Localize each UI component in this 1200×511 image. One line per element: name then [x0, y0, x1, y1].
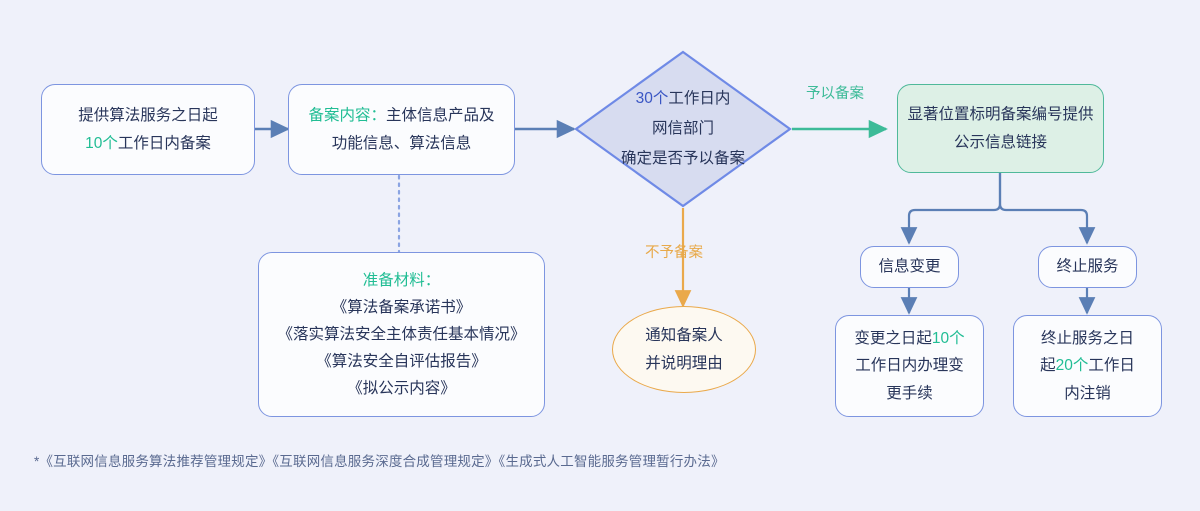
materials-title: 准备材料：	[363, 267, 441, 294]
terminate-service-label: 终止服务	[1056, 253, 1118, 280]
info-change-node[interactable]: 信息变更	[860, 246, 959, 288]
edge-label-reject: 不予备案	[645, 241, 703, 262]
decision-node-text: 30个工作日内 网信部门 确定是否予以备案	[621, 84, 745, 175]
change-detail-node[interactable]: 变更之日起10个 工作日内办理变 更手续	[835, 315, 984, 417]
edge-publish-to-terminate	[1000, 173, 1087, 243]
decision-line-1: 30个工作日内	[621, 84, 745, 114]
change-detail-line-2: 工作日内办理变	[855, 352, 964, 379]
change-detail-line-1: 变更之日起10个	[854, 325, 964, 352]
filing-content-line-2: 功能信息、算法信息	[332, 130, 472, 157]
filing-content-line-1-rest: 主体信息产品及	[386, 107, 495, 124]
publish-node-line-1: 显著位置标明备案编号提供	[907, 101, 1093, 128]
decision-line-1-rest: 工作日内	[668, 90, 730, 107]
change-detail-line-1-pre: 变更之日起	[854, 330, 932, 347]
terminate-detail-line-2-pre: 起	[1040, 357, 1056, 374]
publish-node-line-2: 公示信息链接	[954, 129, 1047, 156]
terminate-detail-line-2: 起20个工作日	[1040, 352, 1135, 379]
change-detail-line-3: 更手续	[886, 380, 933, 407]
terminate-detail-line-2-post: 工作日	[1088, 357, 1135, 374]
reject-node[interactable]: 通知备案人 并说明理由	[612, 306, 756, 393]
terminate-detail-line-3: 内注销	[1064, 380, 1111, 407]
materials-node[interactable]: 准备材料： 《算法备案承诺书》 《落实算法安全主体责任基本情况》 《算法安全自评…	[258, 252, 545, 417]
terminate-detail-accent: 20个	[1056, 357, 1089, 374]
materials-item-4: 《拟公示内容》	[347, 375, 456, 402]
reject-node-line-1: 通知备案人	[645, 322, 723, 349]
decision-line-3: 确定是否予以备案	[621, 144, 745, 174]
filing-content-label: 备案内容：	[308, 107, 386, 124]
start-node-line-2-rest: 工作日内备案	[118, 135, 211, 152]
filing-content-node[interactable]: 备案内容：主体信息产品及 功能信息、算法信息	[288, 84, 515, 175]
publish-node[interactable]: 显著位置标明备案编号提供 公示信息链接	[897, 84, 1104, 173]
change-detail-accent: 10个	[932, 330, 965, 347]
terminate-detail-line-1: 终止服务之日	[1041, 325, 1134, 352]
edge-label-approve: 予以备案	[806, 82, 864, 103]
materials-item-2: 《落实算法安全主体责任基本情况》	[277, 321, 525, 348]
edge-publish-to-info-change	[909, 173, 1000, 243]
decision-line-2: 网信部门	[621, 114, 745, 144]
reject-node-line-2: 并说明理由	[645, 350, 723, 377]
start-node-line-1: 提供算法服务之日起	[78, 102, 218, 129]
decision-node[interactable]: 30个工作日内 网信部门 确定是否予以备案	[574, 50, 792, 208]
materials-item-3: 《算法安全自评估报告》	[316, 348, 487, 375]
start-node-accent: 10个	[85, 135, 118, 152]
start-node[interactable]: 提供算法服务之日起 10个工作日内备案	[41, 84, 255, 175]
decision-accent: 30个	[636, 90, 669, 107]
info-change-label: 信息变更	[878, 253, 940, 280]
materials-item-1: 《算法备案承诺书》	[332, 294, 472, 321]
terminate-detail-node[interactable]: 终止服务之日 起20个工作日 内注销	[1013, 315, 1162, 417]
flowchart-canvas: 提供算法服务之日起 10个工作日内备案 备案内容：主体信息产品及 功能信息、算法…	[0, 0, 1200, 511]
filing-content-line-1: 备案内容：主体信息产品及	[308, 102, 494, 129]
start-node-line-2: 10个工作日内备案	[85, 130, 211, 157]
footnote: *《互联网信息服务算法推荐管理规定》《互联网信息服务深度合成管理规定》《生成式人…	[34, 450, 725, 470]
terminate-service-node[interactable]: 终止服务	[1038, 246, 1137, 288]
